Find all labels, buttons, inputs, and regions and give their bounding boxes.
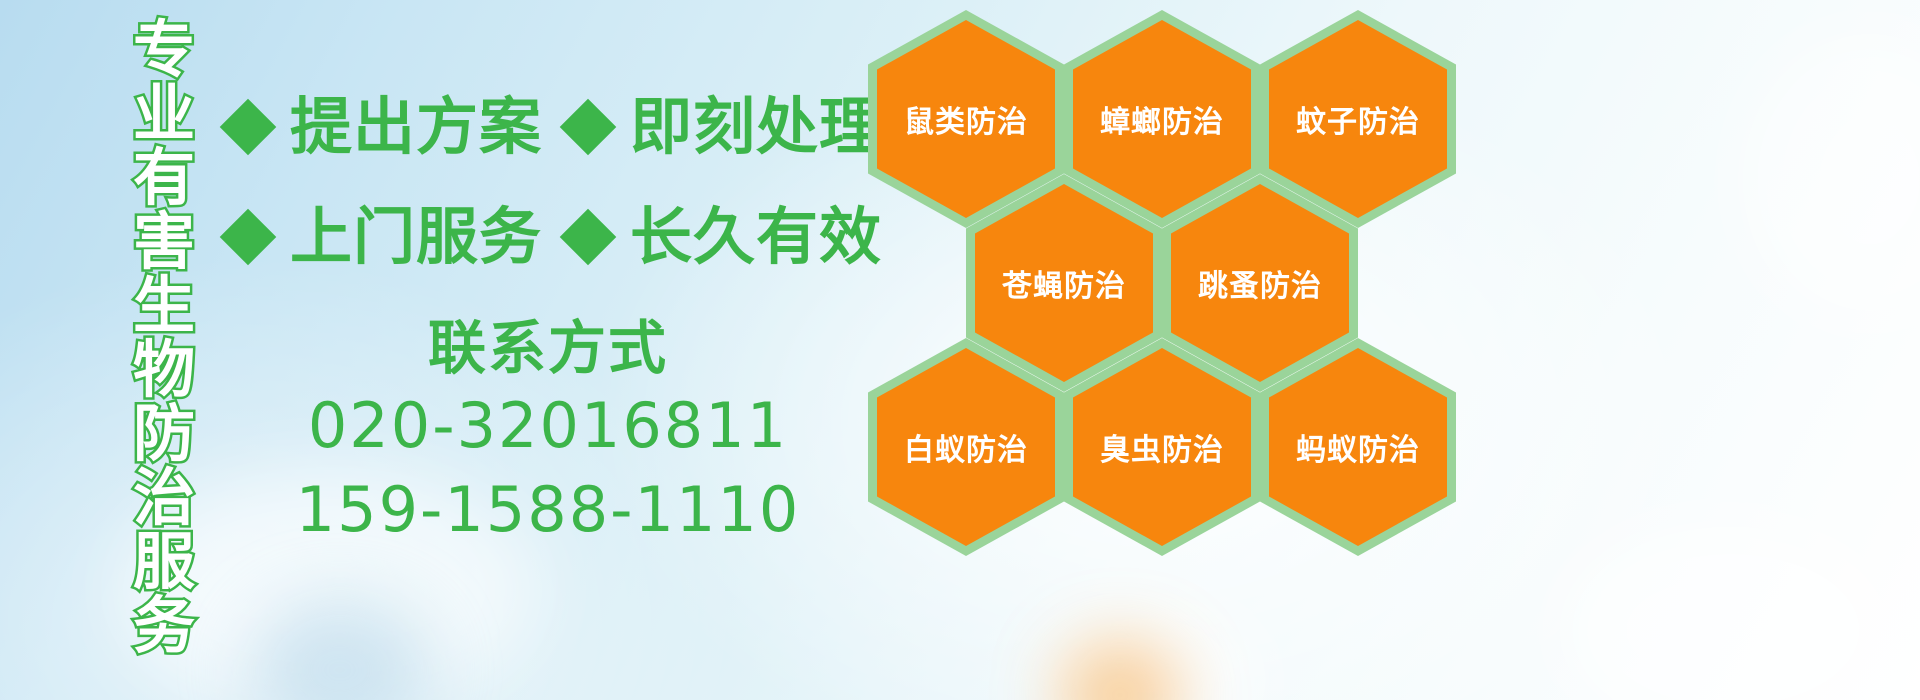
service-label: 鼠类防治: [904, 97, 1028, 141]
slogan-text: 上门服务: [290, 206, 542, 268]
vertical-headline-char: 专: [133, 18, 195, 82]
slogan-item: 即刻处理: [568, 96, 882, 158]
service-label: 蟑螂防治: [1100, 97, 1224, 141]
hexagon-inner: 跳蚤防治: [1171, 184, 1349, 382]
vertical-headline-char: 业: [133, 82, 195, 146]
slogan-text: 即刻处理: [630, 96, 882, 158]
slogan-text: 长久有效: [630, 206, 882, 268]
vertical-headline-char: 生: [133, 274, 195, 338]
diamond-bullet-icon: [560, 209, 617, 266]
diamond-bullet-icon: [220, 99, 277, 156]
slogan-item: 提出方案: [228, 96, 542, 158]
slogan-text: 提出方案: [290, 96, 542, 158]
pest-control-banner: 专 业 有 害 生 物 防 治 服 务 提出方案 即刻处理 上门服务: [0, 0, 1920, 700]
background-blur-blob: [1560, 520, 1900, 700]
hexagon-inner: 蚂蚁防治: [1269, 348, 1447, 546]
hexagon-inner: 鼠类防治: [877, 20, 1055, 218]
diamond-bullet-icon: [560, 99, 617, 156]
slogan-block: 提出方案 即刻处理 上门服务 长久有效: [228, 72, 868, 292]
service-label: 臭虫防治: [1100, 425, 1224, 469]
hexagon-inner: 臭虫防治: [1073, 348, 1251, 546]
service-label: 蚂蚁防治: [1296, 425, 1420, 469]
background-blur-blob: [1740, 30, 1920, 330]
vertical-headline-char: 害: [133, 210, 195, 274]
vertical-headline-char: 务: [133, 594, 195, 658]
hexagon-inner: 蟑螂防治: [1073, 20, 1251, 218]
service-hexagon-grid: 鼠类防治 蟑螂防治 蚊子防治 苍蝇防治 跳蚤防治 白蚁防治: [862, 0, 1462, 700]
slogan-item: 长久有效: [568, 206, 882, 268]
vertical-headline-char: 有: [133, 146, 195, 210]
service-label: 跳蚤防治: [1198, 261, 1322, 305]
hexagon-inner: 白蚁防治: [877, 348, 1055, 546]
hexagon-inner: 苍蝇防治: [975, 184, 1153, 382]
slogan-row: 提出方案 即刻处理: [228, 72, 868, 182]
service-label: 蚊子防治: [1296, 97, 1420, 141]
vertical-headline-char: 服: [133, 530, 195, 594]
vertical-headline: 专 业 有 害 生 物 防 治 服 务: [112, 18, 216, 678]
contact-block: 联系方式 020-32016811 159-1588-1110: [228, 312, 868, 552]
slogan-item: 上门服务: [228, 206, 542, 268]
hexagon-inner: 蚊子防治: [1269, 20, 1447, 218]
service-label: 苍蝇防治: [1002, 261, 1126, 305]
vertical-headline-char: 防: [133, 402, 195, 466]
vertical-headline-char: 治: [133, 466, 195, 530]
slogan-row: 上门服务 长久有效: [228, 182, 868, 292]
service-label: 白蚁防治: [904, 425, 1028, 469]
phone-number-landline[interactable]: 020-32016811: [228, 384, 868, 468]
diamond-bullet-icon: [220, 209, 277, 266]
phone-number-mobile[interactable]: 159-1588-1110: [228, 468, 868, 552]
vertical-headline-char: 物: [133, 338, 195, 402]
background-blur-blob: [250, 600, 430, 700]
contact-label: 联系方式: [228, 312, 868, 384]
